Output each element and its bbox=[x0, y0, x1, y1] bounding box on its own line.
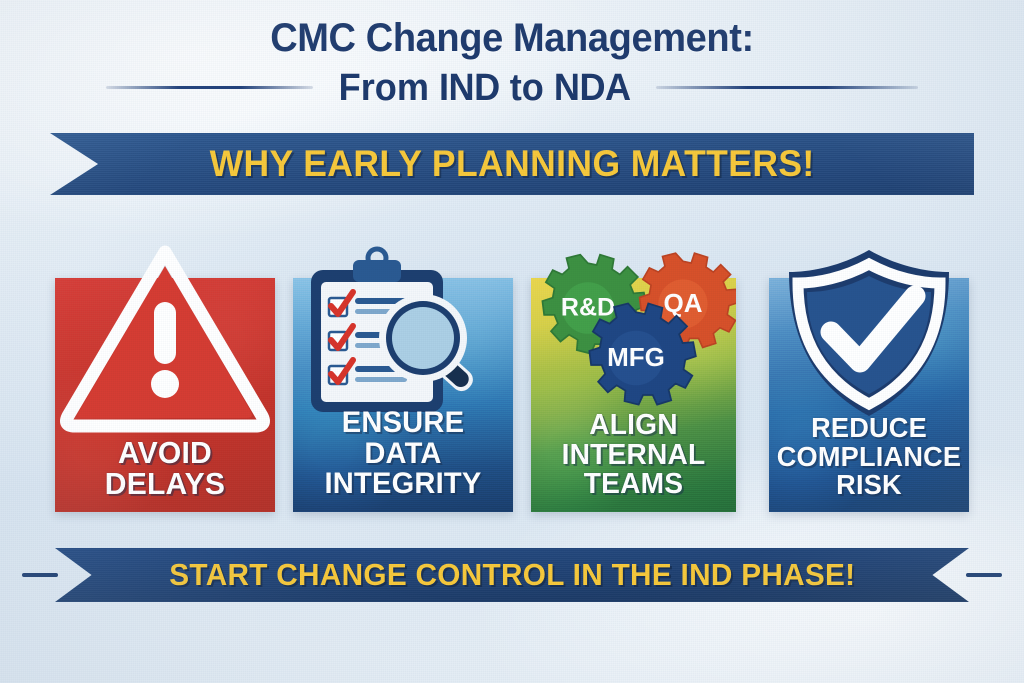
card-label-line: DELAYS bbox=[51, 468, 280, 500]
card-label-avoid-delays: AVOID DELAYS bbox=[51, 437, 280, 500]
card-label-line: INTEGRITY bbox=[289, 469, 518, 500]
page-title-line-2: From IND to NDA bbox=[339, 69, 631, 107]
page-title-line-1: CMC Change Management: bbox=[26, 16, 999, 61]
card-label-reduce-compliance-risk: REDUCE COMPLIANCE RISK bbox=[764, 414, 974, 500]
card-label-line: RISK bbox=[764, 471, 974, 500]
card-label-line: DATA bbox=[289, 439, 518, 470]
card-label-line: ALIGN bbox=[526, 411, 740, 441]
card-label-line: AVOID bbox=[51, 437, 280, 469]
bottom-banner-dash-left bbox=[22, 573, 58, 577]
card-label-line: INTERNAL bbox=[526, 441, 740, 471]
card-label-ensure-data-integrity: ENSURE DATA INTEGRITY bbox=[289, 408, 518, 500]
page-title-line-2-row: From IND to NDA bbox=[0, 65, 1024, 111]
title-rule-left bbox=[106, 86, 313, 89]
bottom-banner-text: START CHANGE CONTROL IN THE IND PHASE! bbox=[169, 557, 855, 593]
card-label-line: ENSURE bbox=[289, 408, 518, 439]
title-nda-text: NDA bbox=[554, 67, 631, 109]
top-banner-ribbon: WHY EARLY PLANNING MATTERS! bbox=[50, 133, 974, 195]
card-ensure-data-integrity: ENSURE DATA INTEGRITY bbox=[293, 278, 513, 512]
card-align-internal-teams: R&D QA MFG ALIGN INTE bbox=[531, 278, 736, 512]
card-reduce-compliance-risk: REDUCE COMPLIANCE RISK bbox=[769, 278, 969, 512]
infographic-poster: CMC Change Management: From IND to NDA W… bbox=[0, 0, 1024, 683]
title-block: CMC Change Management: From IND to NDA bbox=[0, 16, 1024, 111]
title-from-text: From bbox=[339, 67, 439, 109]
bottom-banner-dash-right bbox=[966, 573, 1002, 577]
card-label-line: TEAMS bbox=[526, 470, 740, 500]
title-rule-right bbox=[656, 86, 918, 89]
bottom-banner-ribbon: START CHANGE CONTROL IN THE IND PHASE! bbox=[55, 548, 969, 602]
top-banner-text: WHY EARLY PLANNING MATTERS! bbox=[209, 143, 814, 185]
card-label-align-internal-teams: ALIGN INTERNAL TEAMS bbox=[526, 411, 740, 500]
title-ind-text: IND bbox=[439, 67, 500, 109]
card-label-line: COMPLIANCE bbox=[764, 443, 974, 472]
card-label-line: REDUCE bbox=[764, 414, 974, 443]
card-avoid-delays: AVOID DELAYS bbox=[55, 278, 275, 512]
title-to-text: to bbox=[500, 67, 554, 109]
